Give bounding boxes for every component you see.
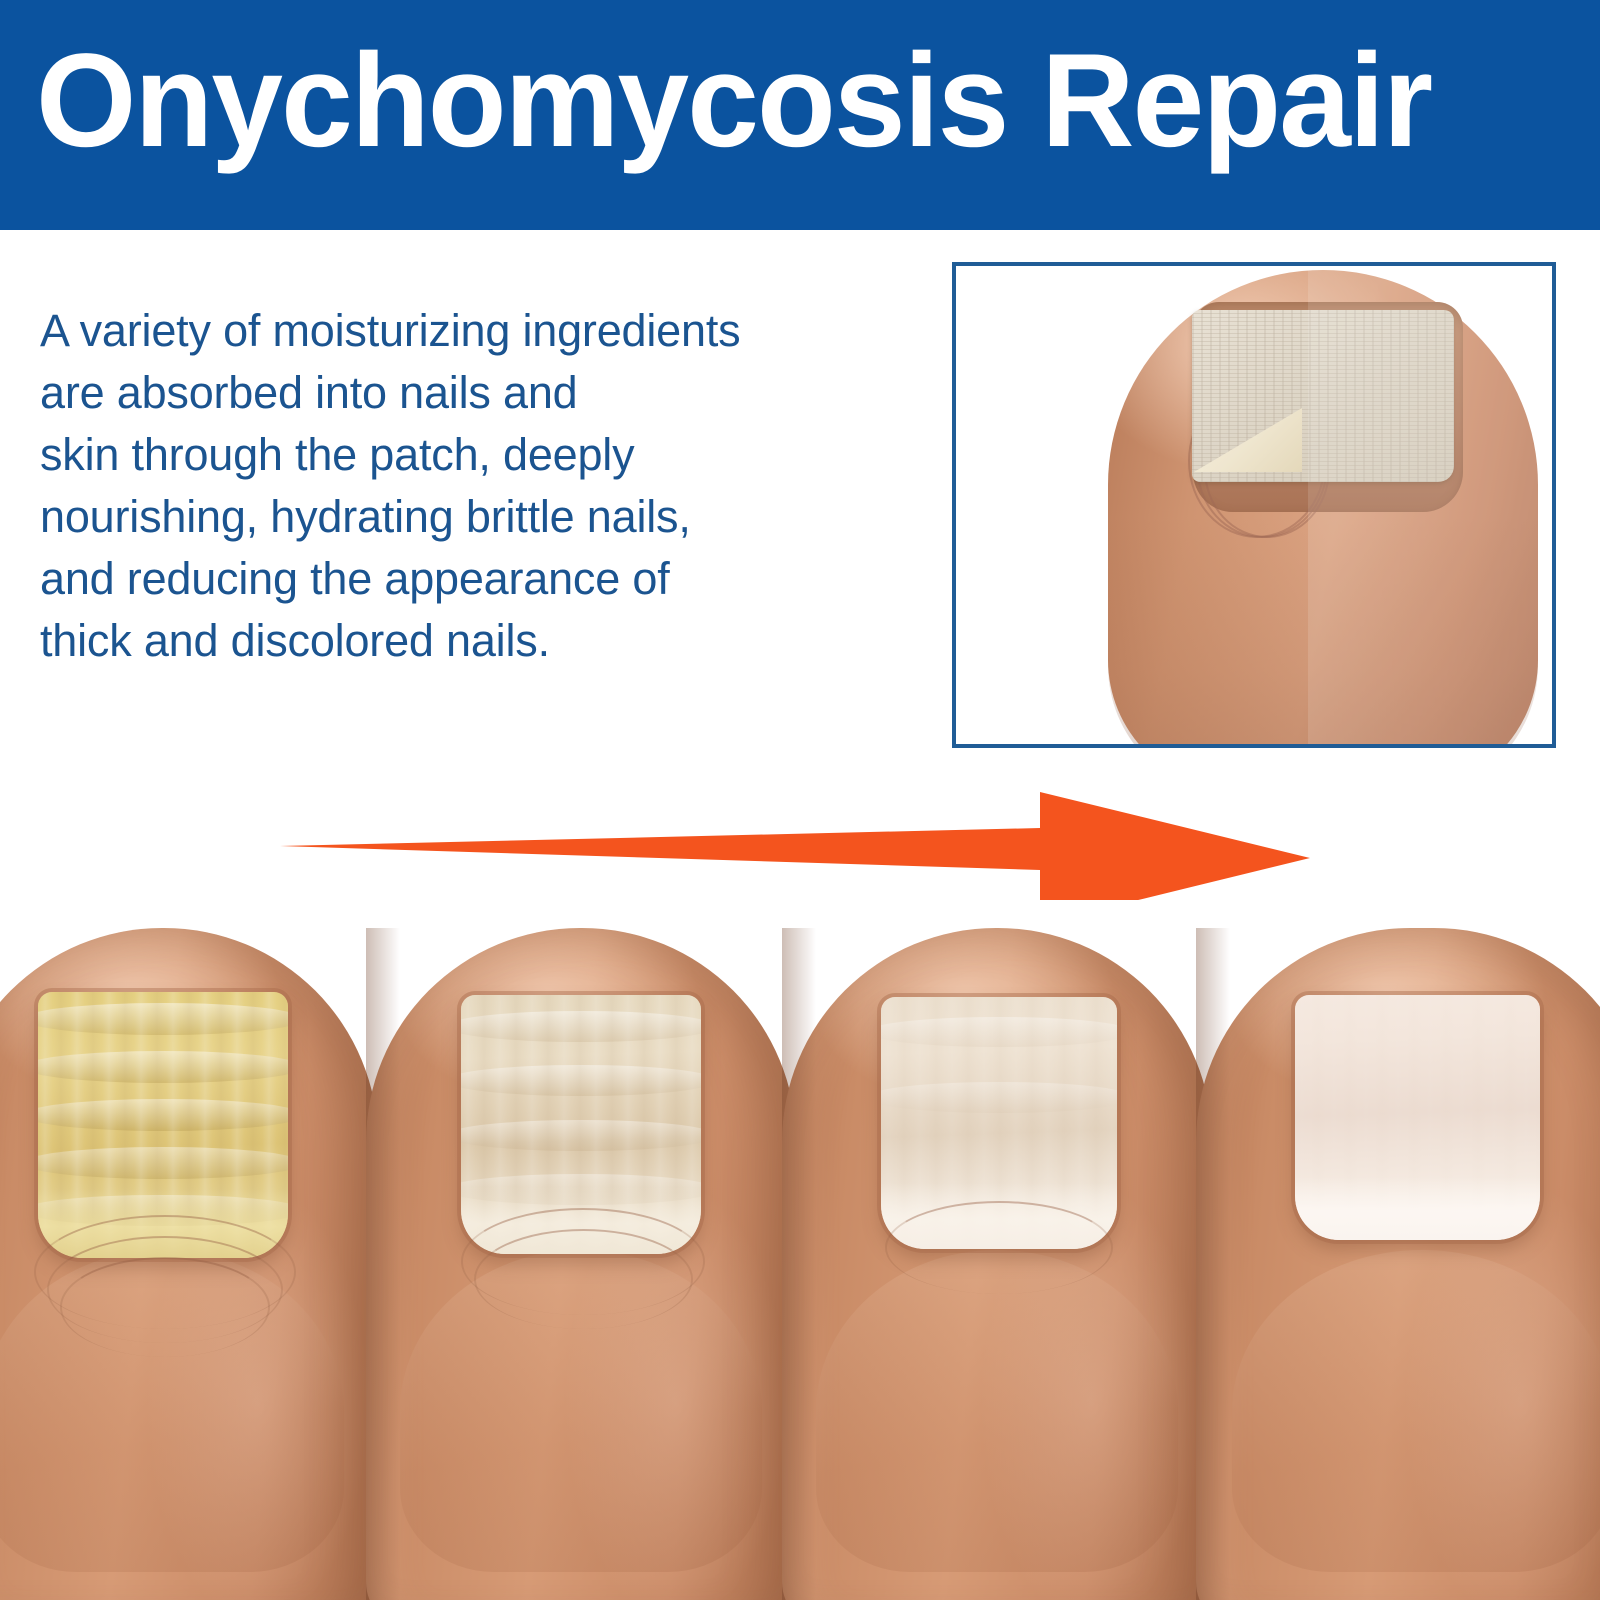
- toe-gap-shadow: [366, 928, 400, 1600]
- page-title: Onychomycosis Repair: [36, 26, 1530, 176]
- inset-toe-shading: [1108, 516, 1538, 748]
- progression-arrow: [280, 778, 1310, 900]
- nail-free-edge: [1295, 1177, 1539, 1241]
- toe-gap-shadow: [782, 928, 816, 1600]
- toe-cuticle-arc: [60, 1257, 270, 1357]
- toe-nail-plate: [1295, 995, 1539, 1240]
- toe-progression-row: [0, 910, 1600, 1600]
- toe-cuticle-arc: [885, 1201, 1113, 1294]
- toe-stage-1: [0, 928, 378, 1600]
- product-infographic: Onychomycosis Repair A variety of moistu…: [0, 0, 1600, 1600]
- description-paragraph: A variety of moisturizing ingredients ar…: [40, 300, 920, 672]
- toe-gap-shadow: [1196, 928, 1230, 1600]
- toe-cuticle-arc: [474, 1229, 693, 1329]
- inset-illustration: [956, 266, 1552, 744]
- toe-crease: [1232, 1250, 1600, 1572]
- header-banner: Onychomycosis Repair: [0, 0, 1600, 230]
- toe-stage-2: [366, 928, 796, 1600]
- toe-stage-3: [782, 928, 1212, 1600]
- toe-crease: [816, 1250, 1177, 1572]
- patch-application-inset: [952, 262, 1556, 748]
- toe-stage-4: [1196, 928, 1600, 1600]
